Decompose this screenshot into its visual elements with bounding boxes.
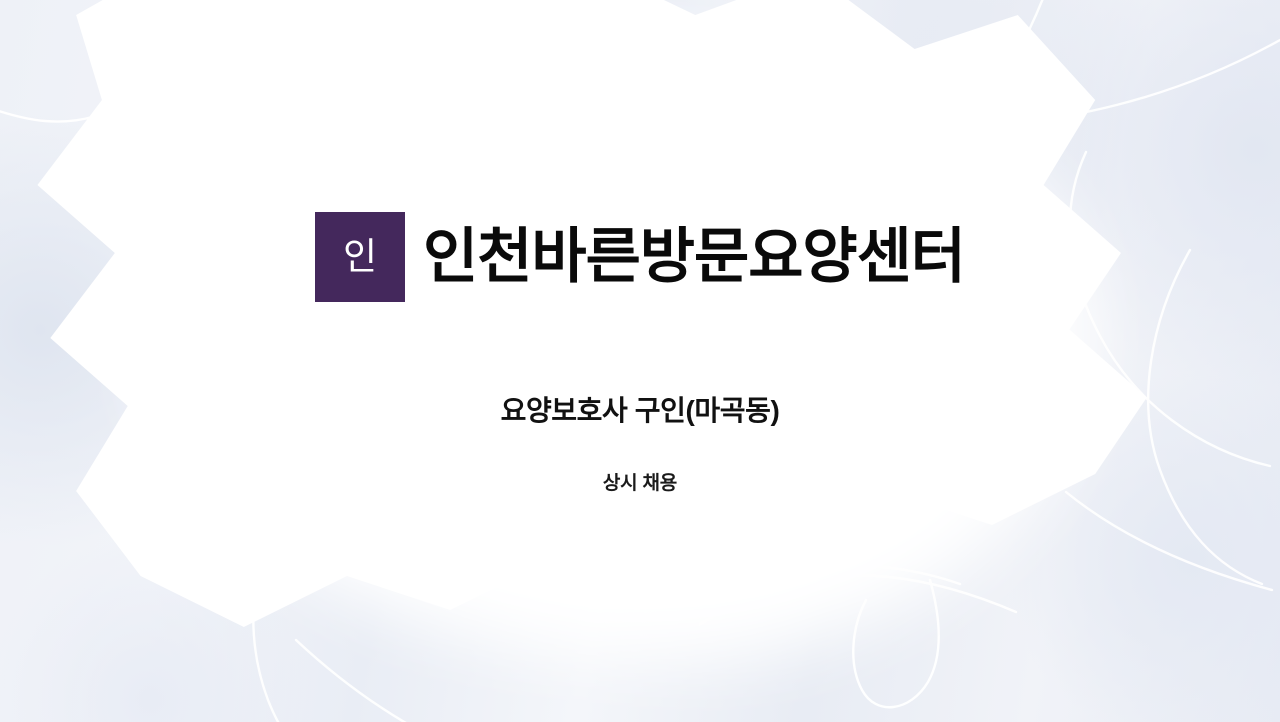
job-title: 요양보호사 구인(마곡동) (501, 394, 780, 428)
company-header: 인 인천바른방문요양센터 (315, 185, 965, 328)
hiring-status-badge: 상시 채용 (603, 473, 677, 496)
company-name: 인천바른방문요양센터 (423, 225, 965, 288)
company-logo-badge: 인 (315, 212, 405, 302)
job-posting-poster: 인 인천바른방문요양센터 요양보호사 구인(마곡동) 상시 채용 (0, 0, 1280, 722)
poster-content: 인 인천바른방문요양센터 요양보호사 구인(마곡동) 상시 채용 (0, 0, 1280, 722)
